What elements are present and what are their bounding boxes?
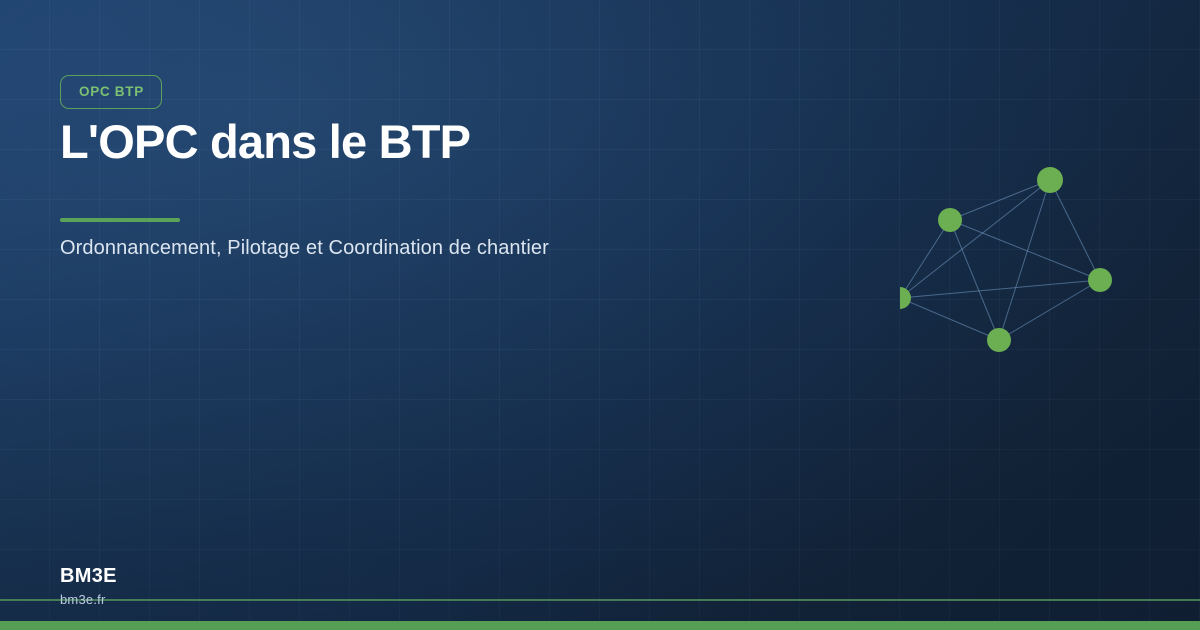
graph-node [938,208,962,232]
graph-node [1088,268,1112,292]
page-title: L'OPC dans le BTP [60,114,470,169]
network-graph-svg [900,0,1200,420]
content-column: OPC BTP L'OPC dans le BTP Ordonnancement… [60,0,780,630]
category-badge: OPC BTP [60,75,162,109]
graph-node [987,328,1011,352]
graph-edge [1050,180,1100,280]
bottom-accent-bar [0,621,1200,630]
graph-edge [900,280,1100,298]
og-card: OPC BTP L'OPC dans le BTP Ordonnancement… [0,0,1200,630]
graph-edge [950,220,1100,280]
graph-node [1037,167,1063,193]
graph-edge [950,180,1050,220]
footer-branding: BM3E bm3e.fr [60,564,117,608]
graph-edge [999,280,1100,340]
graph-edge [900,220,950,298]
accent-rule [60,218,180,222]
page-subtitle: Ordonnancement, Pilotage et Coordination… [60,234,549,263]
network-graph [900,0,1200,420]
graph-edge [999,180,1050,340]
footer-hairline [0,599,1200,601]
brand-name: BM3E [60,564,117,588]
brand-url: bm3e.fr [60,592,117,608]
